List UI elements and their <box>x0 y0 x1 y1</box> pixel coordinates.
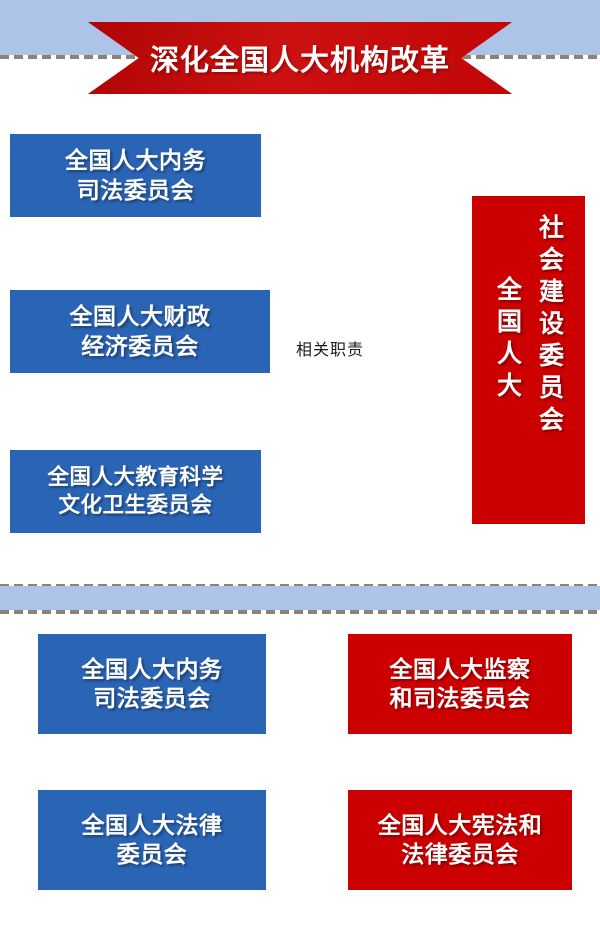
mid-blue-band <box>0 586 600 612</box>
old-committee-box-1[interactable]: 全国人大内务 司法委员会 <box>10 134 261 217</box>
after-row-1-old-box[interactable]: 全国人大内务 司法委员会 <box>38 634 266 734</box>
title-ribbon: 深化全国人大机构改革 <box>88 22 512 94</box>
after-row-1-old-label: 全国人大内务 司法委员会 <box>82 655 223 714</box>
new-committee-secondary-label: 全国人大 <box>490 276 526 404</box>
old-committee-label-3: 全国人大教育科学 文化卫生委员会 <box>47 464 223 519</box>
new-committee-primary-label: 社会建设委员会 <box>532 214 568 438</box>
after-row-1-new-label: 全国人大监察 和司法委员会 <box>390 655 531 714</box>
new-committee-vertical-panel[interactable]: 社会建设委员会 全国人大 <box>472 196 585 524</box>
mid-band-dashed-bottom <box>0 610 600 614</box>
after-row-2-new-label: 全国人大宪法和 法律委员会 <box>378 811 543 870</box>
old-committee-box-3[interactable]: 全国人大教育科学 文化卫生委员会 <box>10 450 261 533</box>
responsibilities-caption: 相关职责 <box>296 336 406 360</box>
after-row-2-old-label: 全国人大法律 委员会 <box>82 811 223 870</box>
old-committee-label-1: 全国人大内务 司法委员会 <box>65 146 206 205</box>
after-row-2-old-box[interactable]: 全国人大法律 委员会 <box>38 790 266 890</box>
old-committee-label-2: 全国人大财政 经济委员会 <box>70 302 211 361</box>
after-row-2-new-box[interactable]: 全国人大宪法和 法律委员会 <box>348 790 572 890</box>
page-title: 深化全国人大机构改革 <box>150 37 450 79</box>
after-row-1-new-box[interactable]: 全国人大监察 和司法委员会 <box>348 634 572 734</box>
old-committee-box-2[interactable]: 全国人大财政 经济委员会 <box>10 290 270 373</box>
